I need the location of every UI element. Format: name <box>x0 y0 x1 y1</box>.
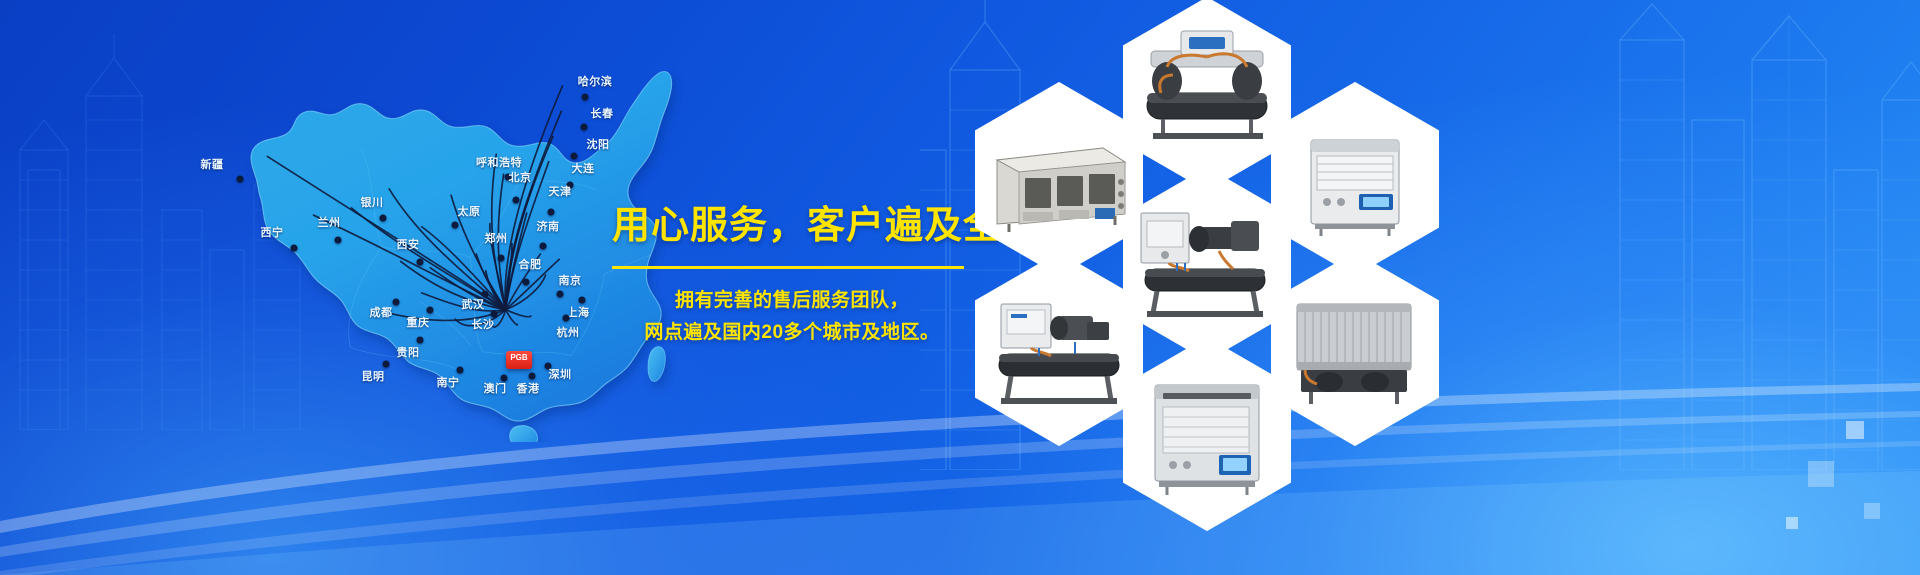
city-label: 长沙 <box>472 316 495 332</box>
city-label: 新疆 <box>201 156 224 172</box>
city-dot[interactable] <box>417 337 424 344</box>
city-label: 昆明 <box>362 368 385 384</box>
city-dot[interactable] <box>548 209 555 216</box>
city-label: 郑州 <box>485 230 508 246</box>
product-image-air-cooled-box-chiller <box>975 82 1143 276</box>
city-label: 武汉 <box>462 296 485 312</box>
city-dot[interactable] <box>291 245 298 252</box>
product-image-water-cooled-screw-chiller <box>1123 0 1291 191</box>
product-image-air-cooled-condenser <box>1271 252 1439 446</box>
hub-marker-pgb[interactable]: PGB <box>506 351 532 369</box>
city-label: 济南 <box>537 218 560 234</box>
city-label: 成都 <box>370 304 393 320</box>
product-hex-box-type-chiller-unit[interactable] <box>1123 337 1291 531</box>
city-dot[interactable] <box>335 237 342 244</box>
city-label: 南京 <box>559 272 582 288</box>
product-image-condensing-unit <box>975 252 1143 446</box>
city-dot[interactable] <box>513 197 520 204</box>
city-dot[interactable] <box>529 373 536 380</box>
city-dot[interactable] <box>563 315 570 322</box>
city-label: 深圳 <box>549 366 572 382</box>
product-hex-water-cooled-screw-chiller[interactable] <box>1123 0 1291 191</box>
taiwan-shape <box>648 347 665 382</box>
city-dot[interactable] <box>452 222 459 229</box>
city-label: 银川 <box>361 194 384 210</box>
city-dot[interactable] <box>581 124 588 131</box>
city-label: 太原 <box>458 203 481 219</box>
city-dot[interactable] <box>579 297 586 304</box>
product-image-screw-compressor-unit <box>1123 167 1291 361</box>
banner-subtitle-line-1: 拥有完善的售后服务团队， <box>612 285 972 317</box>
city-label: 沈阳 <box>587 136 610 152</box>
city-label: 南宁 <box>437 374 460 390</box>
decoration-square-3 <box>1864 503 1880 519</box>
city-label: 大连 <box>572 160 595 176</box>
city-label: 北京 <box>509 169 532 185</box>
city-label: 香港 <box>517 380 540 396</box>
headline-divider <box>612 266 964 269</box>
promo-banner: 新疆哈尔滨长春沈阳大连呼和浩特北京天津银川兰州太原西宁西安郑州济南合肥南京上海杭… <box>0 0 1920 575</box>
city-dot[interactable] <box>571 153 578 160</box>
product-hex-air-cooled-box-chiller[interactable] <box>975 82 1143 276</box>
city-label: 兰州 <box>318 214 341 230</box>
city-label: 澳门 <box>484 380 507 396</box>
product-hexagon-grid <box>975 0 1435 575</box>
city-dot[interactable] <box>457 367 464 374</box>
city-dot[interactable] <box>393 299 400 306</box>
product-hex-air-cooled-condenser[interactable] <box>1271 252 1439 446</box>
banner-copy: 用心服务，客户遍及全国 拥有完善的售后服务团队， 网点遍及国内20多个城市及地区… <box>612 200 972 349</box>
decoration-square-2 <box>1808 461 1834 487</box>
product-image-industrial-water-chiller <box>1271 82 1439 276</box>
city-dot[interactable] <box>380 215 387 222</box>
city-label: 西安 <box>397 236 420 252</box>
city-dot[interactable] <box>427 307 434 314</box>
city-label: 呼和浩特 <box>476 154 522 170</box>
product-hex-screw-compressor-unit[interactable] <box>1123 167 1291 361</box>
city-label: 西宁 <box>261 224 284 240</box>
decoration-square-1 <box>1846 421 1864 439</box>
decoration-square-4 <box>1786 517 1798 529</box>
product-hex-industrial-water-chiller[interactable] <box>1271 82 1439 276</box>
city-dot[interactable] <box>383 361 390 368</box>
city-label: 贵阳 <box>397 344 420 360</box>
city-label: 合肥 <box>519 256 542 272</box>
city-dot[interactable] <box>582 94 589 101</box>
city-label: 杭州 <box>557 324 580 340</box>
city-dot[interactable] <box>417 259 424 266</box>
city-dot[interactable] <box>557 291 564 298</box>
product-image-box-type-chiller-unit <box>1123 337 1291 531</box>
city-dot[interactable] <box>523 279 530 286</box>
city-label: 天津 <box>549 183 572 199</box>
city-label: 长春 <box>591 105 614 121</box>
banner-subtitle-line-2: 网点遍及国内20多个城市及地区。 <box>612 317 972 349</box>
city-label: 哈尔滨 <box>578 73 613 89</box>
city-dot[interactable] <box>237 176 244 183</box>
city-dot[interactable] <box>498 255 505 262</box>
product-hex-condensing-unit[interactable] <box>975 252 1143 446</box>
hainan-shape <box>510 426 538 442</box>
city-label: 重庆 <box>407 314 430 330</box>
banner-headline: 用心服务，客户遍及全国 <box>612 200 972 252</box>
city-dot[interactable] <box>540 243 547 250</box>
city-label: 上海 <box>567 304 590 320</box>
